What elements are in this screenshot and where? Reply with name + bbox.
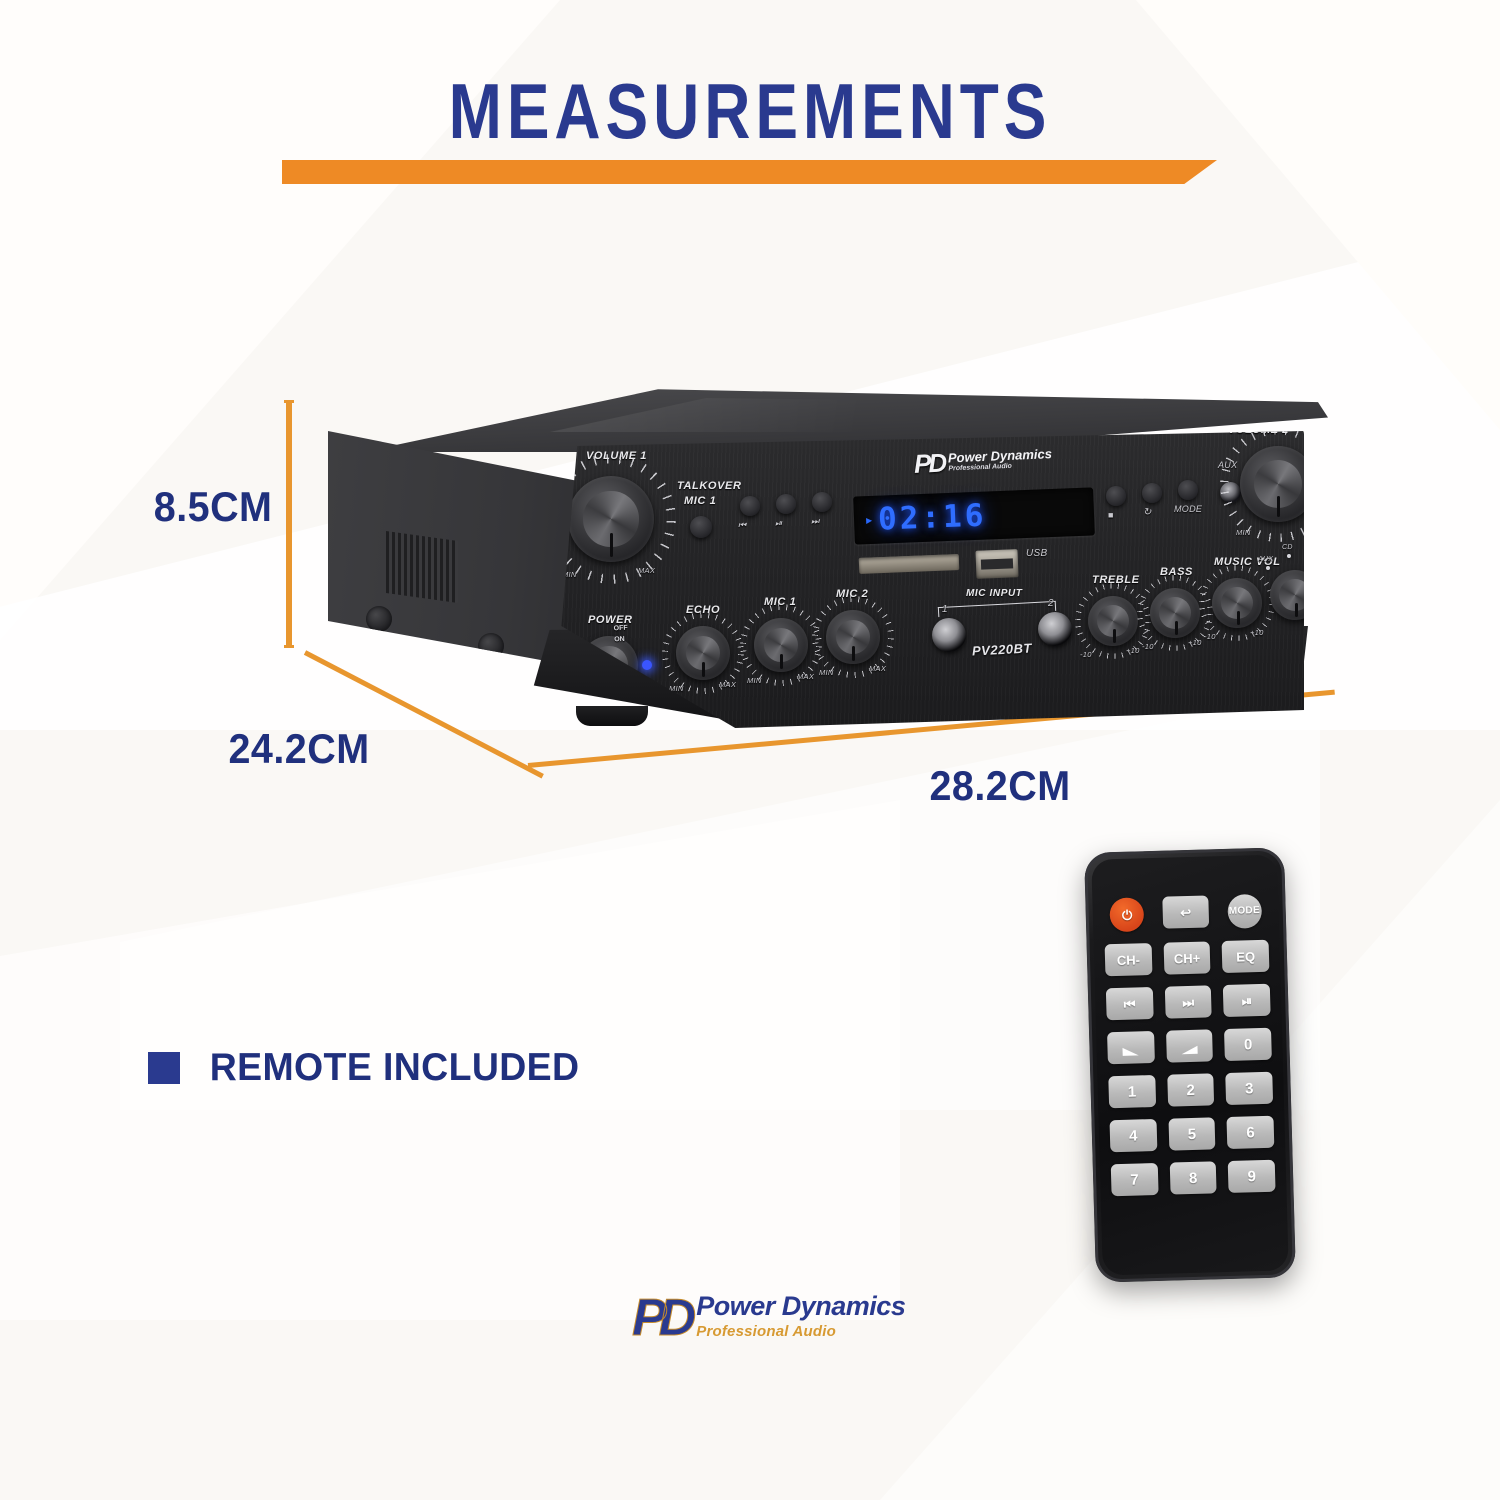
remote-key-label: 4: [1129, 1128, 1138, 1143]
remote-included-label: REMOTE INCLUDED: [210, 1046, 580, 1090]
mic-input-1-jack[interactable]: [932, 618, 966, 652]
remote-key-label: 0: [1244, 1037, 1253, 1052]
treble-knob[interactable]: [1088, 596, 1138, 646]
remote-key-digit-7[interactable]: 7: [1111, 1163, 1159, 1196]
bass-label: BASS: [1160, 566, 1193, 578]
mic1-knob[interactable]: [754, 618, 808, 672]
treble-label: TREBLE: [1092, 574, 1140, 586]
source-aux-dot: [1266, 566, 1270, 570]
remote-keypad: ⏻↩MODECH-CH+EQ⏮⏭⏯0123456789: [1103, 894, 1275, 1196]
mic2-pointer: [852, 646, 855, 661]
volume2-min-label: MIN: [1236, 528, 1251, 537]
power-led-indicator: [642, 660, 652, 670]
height-dimension-line: [286, 400, 292, 648]
stop-icon: ■: [1108, 510, 1114, 520]
remote-key-label: 6: [1246, 1125, 1255, 1140]
width-dimension-label: 28.2CM: [930, 762, 1071, 810]
power-off-label: OFF: [613, 624, 628, 636]
display-play-icon: ▸: [866, 514, 872, 526]
remote-key-label: CH-: [1117, 953, 1140, 967]
amplifier-foot-left: [576, 706, 648, 726]
remote-key-play-pause[interactable]: ⏯: [1223, 984, 1271, 1017]
mic1-knob-label: MIC 1: [764, 596, 796, 608]
remote-key-label: ⏭: [1182, 995, 1194, 1008]
remote-key-label: 7: [1130, 1172, 1139, 1187]
mode-button[interactable]: [1178, 480, 1198, 500]
remote-key-volume-down[interactable]: [1107, 1031, 1155, 1064]
mic1-pointer: [780, 654, 783, 669]
remote-key-eq[interactable]: EQ: [1222, 940, 1270, 973]
music-vol-pointer: [1237, 611, 1240, 625]
bullet-square-icon: [148, 1052, 180, 1084]
power-onoff-markings: OFF ON: [613, 624, 628, 646]
side-vent-grille: [386, 531, 458, 603]
remote-key-next[interactable]: ⏭: [1164, 985, 1212, 1018]
side-screw-rear: [478, 633, 504, 659]
remote-key-power[interactable]: ⏻: [1110, 897, 1145, 932]
background-wedge-top-right: [980, 0, 1500, 430]
mic2-max-label: MAX: [869, 664, 886, 673]
repeat-button[interactable]: [1142, 483, 1162, 503]
volume1-max-label: MAX: [638, 566, 655, 575]
remote-key-volume-up[interactable]: [1166, 1029, 1214, 1062]
remote-key-digit-0[interactable]: 0: [1224, 1028, 1272, 1061]
talkover-label: TALKOVER: [677, 480, 741, 492]
music-volume-knob[interactable]: [1212, 578, 1262, 628]
volume1-pointer: [610, 533, 613, 557]
bass-min-label: -10: [1142, 642, 1154, 651]
remote-key-return[interactable]: ↩: [1162, 895, 1210, 928]
infographic-canvas: MEASUREMENTS 8.5CM 24.2CM 28.2CM PD Powe…: [0, 0, 1500, 1500]
volume1-knob[interactable]: [568, 476, 654, 562]
volume2-max-label: MAX: [1304, 524, 1321, 533]
footer-brand-tagline: Professional Audio: [696, 1320, 905, 1344]
remote-key-label: CH+: [1174, 951, 1201, 965]
play-pause-icon: ⏯: [775, 518, 783, 529]
amplifier-product-image: PD Power Dynamics Professional Audio VOL…: [318, 388, 1348, 743]
remote-key-digit-4[interactable]: 4: [1110, 1119, 1158, 1152]
usb-label: USB: [1026, 548, 1047, 559]
volume1-label: VOLUME 1: [586, 450, 647, 462]
echo-label: ECHO: [686, 604, 720, 616]
led-display: ▸ 02:16: [853, 487, 1095, 544]
music-vol-max-label: +10: [1250, 628, 1264, 637]
mic1-max-label: MAX: [797, 672, 814, 681]
source-cd-dot: [1287, 554, 1291, 558]
mic-input-1-label: 1: [942, 604, 948, 615]
mic-input-2-label: 2: [1048, 598, 1054, 609]
volume-down-icon: [1123, 1039, 1139, 1055]
play-pause-button[interactable]: [776, 494, 796, 514]
treble-max-label: +10: [1126, 646, 1140, 655]
remote-key-channel-up[interactable]: CH+: [1163, 941, 1211, 974]
volume2-label: VOLUME 2: [1228, 424, 1289, 436]
previous-track-button[interactable]: [740, 496, 760, 516]
remote-key-label: 3: [1245, 1081, 1254, 1096]
source-cd-label: CD: [1282, 544, 1293, 551]
mic-input-2-jack[interactable]: [1038, 612, 1072, 646]
talkover-sub-label: MIC 1: [684, 495, 716, 507]
footer-brand-logo: PD Power Dynamics Professional Audio: [632, 1292, 905, 1344]
remote-key-label: 5: [1188, 1126, 1197, 1141]
remote-key-label: 8: [1189, 1170, 1198, 1185]
remote-key-label: 2: [1186, 1082, 1195, 1097]
volume-up-icon: [1181, 1038, 1197, 1054]
treble-min-label: -10: [1080, 650, 1092, 659]
remote-control-image: ⏻↩MODECH-CH+EQ⏮⏭⏯0123456789: [1084, 847, 1296, 1282]
remote-key-label: 1: [1128, 1084, 1137, 1099]
remote-key-digit-1[interactable]: 1: [1108, 1075, 1156, 1108]
source-aux-label: AUX: [1258, 556, 1273, 563]
next-track-button[interactable]: [812, 492, 832, 512]
mic1-min-label: MIN: [747, 676, 762, 685]
source-dvd-label: DVD: [1304, 540, 1320, 547]
previous-track-icon: ⏮: [738, 520, 746, 531]
remote-key-digit-5[interactable]: 5: [1168, 1117, 1216, 1150]
remote-key-label: ⏻: [1122, 908, 1133, 921]
echo-knob[interactable]: [676, 626, 730, 680]
mic2-min-label: MIN: [819, 668, 834, 677]
source-selector-pointer: [1295, 603, 1298, 617]
stop-button[interactable]: [1106, 486, 1126, 506]
remote-key-digit-3[interactable]: 3: [1226, 1072, 1274, 1105]
footer-brand-name: Power Dynamics: [696, 1293, 905, 1320]
remote-key-mode[interactable]: MODE: [1227, 894, 1262, 929]
model-number-text: PV220BT: [972, 640, 1033, 658]
remote-key-digit-2[interactable]: 2: [1167, 1073, 1215, 1106]
remote-key-channel-down[interactable]: CH-: [1105, 943, 1153, 976]
echo-max-label: MAX: [719, 680, 736, 689]
title-underline-bar: [282, 160, 1217, 184]
source-dvd-dot: [1310, 550, 1314, 554]
side-screw-front: [366, 606, 392, 632]
mic2-knob-label: MIC 2: [836, 588, 868, 600]
mode-label: MODE: [1174, 504, 1202, 514]
aux-label: AUX: [1218, 460, 1237, 470]
remote-key-digit-9[interactable]: 9: [1228, 1160, 1276, 1193]
display-time-value: 02:16: [877, 498, 987, 538]
remote-key-label: ↩: [1180, 905, 1191, 918]
remote-key-label: ⏯: [1241, 994, 1252, 1007]
remote-key-label: ⏮: [1124, 997, 1136, 1010]
music-vol-min-label: -10: [1204, 632, 1216, 641]
height-dimension-label: 8.5CM: [154, 483, 273, 531]
bass-knob[interactable]: [1150, 588, 1200, 638]
source-selector-knob[interactable]: [1270, 570, 1320, 620]
volume2-knob[interactable]: [1240, 446, 1316, 522]
source-mp3-dot: [1330, 560, 1334, 564]
usb-port[interactable]: [975, 549, 1018, 579]
footer-logo-monogram: PD: [632, 1292, 688, 1344]
mic2-knob[interactable]: [826, 610, 880, 664]
mic-input-label: MIC INPUT: [966, 588, 1023, 599]
bass-pointer: [1175, 621, 1178, 635]
talkover-button[interactable]: [690, 516, 712, 538]
remote-key-digit-8[interactable]: 8: [1169, 1161, 1217, 1194]
next-track-icon: ⏭: [811, 516, 819, 527]
remote-key-previous[interactable]: ⏮: [1106, 987, 1154, 1020]
aux-jack[interactable]: [1220, 482, 1241, 503]
remote-included-callout: REMOTE INCLUDED: [148, 1046, 587, 1090]
brand-monogram: PD: [913, 448, 944, 480]
repeat-icon: ↻: [1143, 507, 1152, 518]
brand-logo: PD Power Dynamics Professional Audio: [913, 443, 1052, 480]
remote-key-digit-6[interactable]: 6: [1227, 1116, 1275, 1149]
remote-key-label: EQ: [1236, 950, 1255, 964]
page-title: MEASUREMENTS: [135, 66, 1365, 157]
remote-key-label: 9: [1247, 1169, 1256, 1184]
source-mp3-label: MP3: [1326, 550, 1341, 557]
echo-pointer: [702, 662, 705, 677]
remote-key-label: MODE: [1229, 906, 1260, 917]
power-on-label: ON: [614, 634, 629, 646]
volume2-pointer: [1277, 496, 1280, 517]
bass-max-label: +10: [1188, 638, 1202, 647]
treble-pointer: [1113, 629, 1116, 643]
